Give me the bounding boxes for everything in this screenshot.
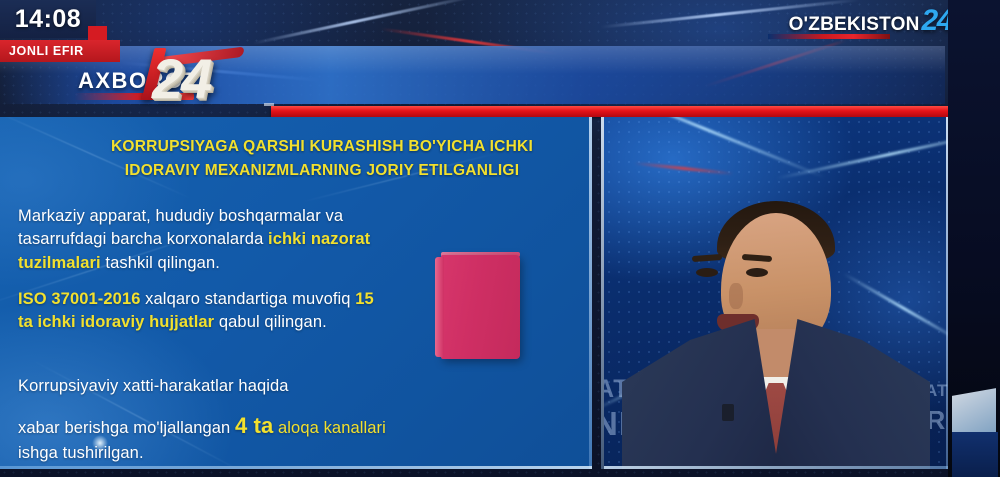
book-icon-cover	[441, 255, 520, 359]
slide-paragraph-3: Korrupsiyaviy xatti-harakatlar haqida xa…	[18, 375, 390, 465]
paragraph-3-count: 4 ta	[235, 413, 273, 438]
header-red-stripe	[271, 106, 948, 117]
paragraph-3-text-a: xabar berishga mo'ljallangan	[18, 419, 235, 437]
paragraph-3-highlight: aloqa kanallari	[273, 419, 386, 437]
book-icon-spine	[435, 257, 444, 357]
live-badge: JONLI EFIR	[0, 40, 120, 62]
presenter-video-panel: ATSION DAS NFORMA INFORMATSION DASTUR	[604, 117, 948, 469]
presenter-left-border	[601, 117, 604, 469]
info-panel-right-border	[589, 117, 592, 469]
paragraph-3-line-1: Korrupsiyaviy xatti-harakatlar haqida	[18, 375, 390, 398]
slide-headline: KORRUPSIYAGA QARSHI KURASHISH BO'YICHA I…	[72, 135, 572, 182]
channel-name: O'ZBEKISTON	[789, 15, 920, 34]
paragraph-2-text-a: xalqaro standartiga muvofiq	[141, 290, 356, 308]
paragraph-3-text-b: ishga tushirilgan.	[18, 444, 144, 462]
paragraph-2-text-b: qabul qilingan.	[214, 313, 327, 331]
live-badge-label: JONLI EFIR	[9, 44, 84, 58]
info-panel-bottom-border	[0, 466, 592, 469]
axborot-logo-number: 24	[152, 46, 210, 111]
paragraph-1-text-b: tashkil qilingan.	[101, 254, 220, 272]
paragraph-3-line-2: xabar berishga mo'ljallangan 4 ta aloqa …	[18, 410, 390, 465]
book-icon	[435, 255, 520, 360]
clock-time: 14:08	[15, 5, 81, 34]
broadcast-screen: 14:08 JONLI EFIR AXBOROT 24 O'ZBEKISTON …	[0, 0, 1000, 477]
anchor-nose	[729, 283, 743, 309]
presenter-bottom-border	[604, 466, 948, 469]
clock-widget: 14:08	[0, 0, 96, 38]
paragraph-2-standard-code: ISO 37001-2016	[18, 290, 141, 308]
anchor-lapel-microphone	[722, 404, 734, 421]
slide-paragraph-2: ISO 37001-2016 xalqaro standartiga muvof…	[18, 288, 390, 335]
anchor-eye-right	[746, 268, 768, 277]
anchor-eye-left	[696, 268, 718, 277]
slide-paragraph-1: Markaziy apparat, hududiy boshqarmalar v…	[18, 205, 390, 275]
studio-blue-panel	[952, 432, 998, 477]
